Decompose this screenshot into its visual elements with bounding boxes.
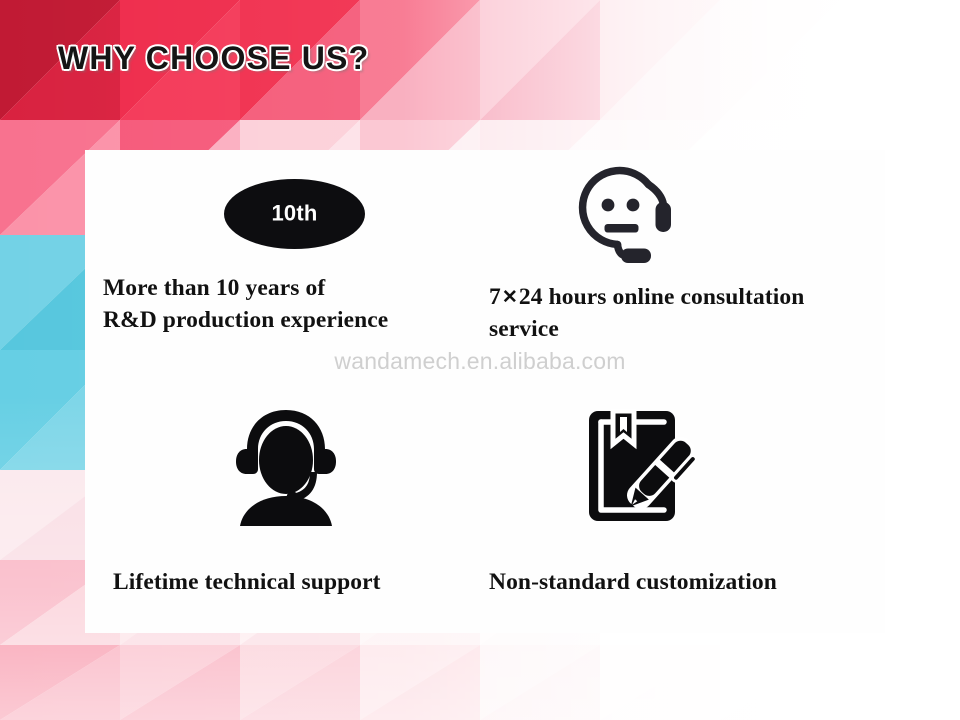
multiply-sign-icon: ✕	[501, 287, 519, 308]
feature-online-consultation-text: 7✕24 hours online consultation service	[489, 281, 879, 346]
feature-support-line1: Lifetime technical support	[113, 566, 473, 598]
headset-face-outline-icon	[570, 164, 674, 269]
slide-canvas: WHY CHOOSE US? 10th More than 10 years o…	[0, 0, 960, 720]
notebook-pen-icon	[582, 402, 700, 535]
feature-consult-line2: service	[489, 313, 879, 345]
feature-years-text: More than 10 years of R&D production exp…	[103, 272, 453, 337]
feature-years-line2: R&D production experience	[103, 304, 453, 336]
feature-consult-line1: 7✕24 hours online consultation	[489, 281, 879, 313]
feature-years-line1: More than 10 years of	[103, 272, 453, 304]
feature-custom-line1: Non-standard customization	[489, 566, 869, 598]
features-card: 10th More than 10 years of R&D productio…	[85, 150, 885, 633]
feature-consult-line1-rest: 24 hours online consultation	[519, 284, 805, 310]
badge-10th-label: 10th	[224, 200, 365, 226]
badge-10th-ellipse-icon: 10th	[224, 179, 365, 249]
support-agent-icon	[234, 408, 338, 531]
feature-lifetime-support-text: Lifetime technical support	[113, 566, 473, 598]
feature-non-standard-customization-text: Non-standard customization	[489, 566, 869, 598]
page-title: WHY CHOOSE US?	[58, 40, 369, 77]
feature-consult-prefix: 7	[489, 284, 501, 310]
